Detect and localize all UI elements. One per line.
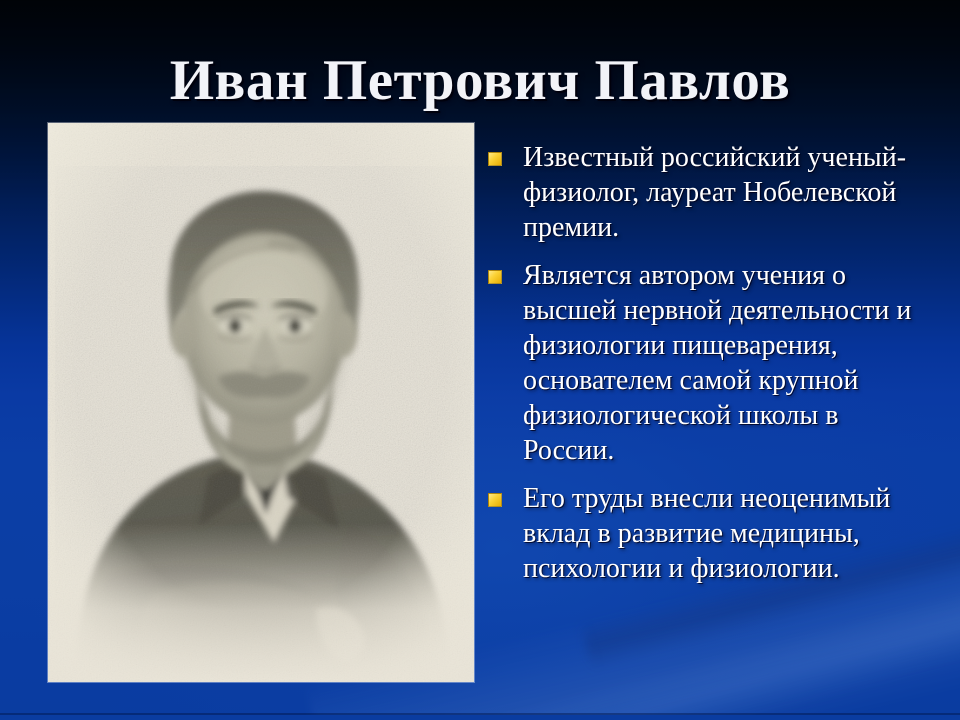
list-item: Известный российский ученый-физиолог, ла… [488, 140, 928, 245]
square-bullet-icon [488, 493, 502, 507]
slide-bottom-strip [0, 715, 960, 720]
list-item: Его труды внесли неоценимый вклад в разв… [488, 481, 928, 586]
portrait-photo [48, 123, 474, 682]
presentation-slide: Иван Петрович Павлов [0, 0, 960, 720]
portrait-image [48, 123, 474, 682]
bullet-text: Является автором учения о высшей нервной… [523, 258, 928, 468]
square-bullet-icon [488, 152, 502, 166]
bullet-text: Его труды внесли неоценимый вклад в разв… [523, 481, 928, 586]
list-item: Является автором учения о высшей нервной… [488, 258, 928, 468]
bullet-text: Известный российский ученый-физиолог, ла… [523, 140, 928, 245]
square-bullet-icon [488, 270, 502, 284]
slide-title: Иван Петрович Павлов [0, 52, 960, 109]
bullet-list: Известный российский ученый-физиолог, ла… [488, 140, 928, 599]
